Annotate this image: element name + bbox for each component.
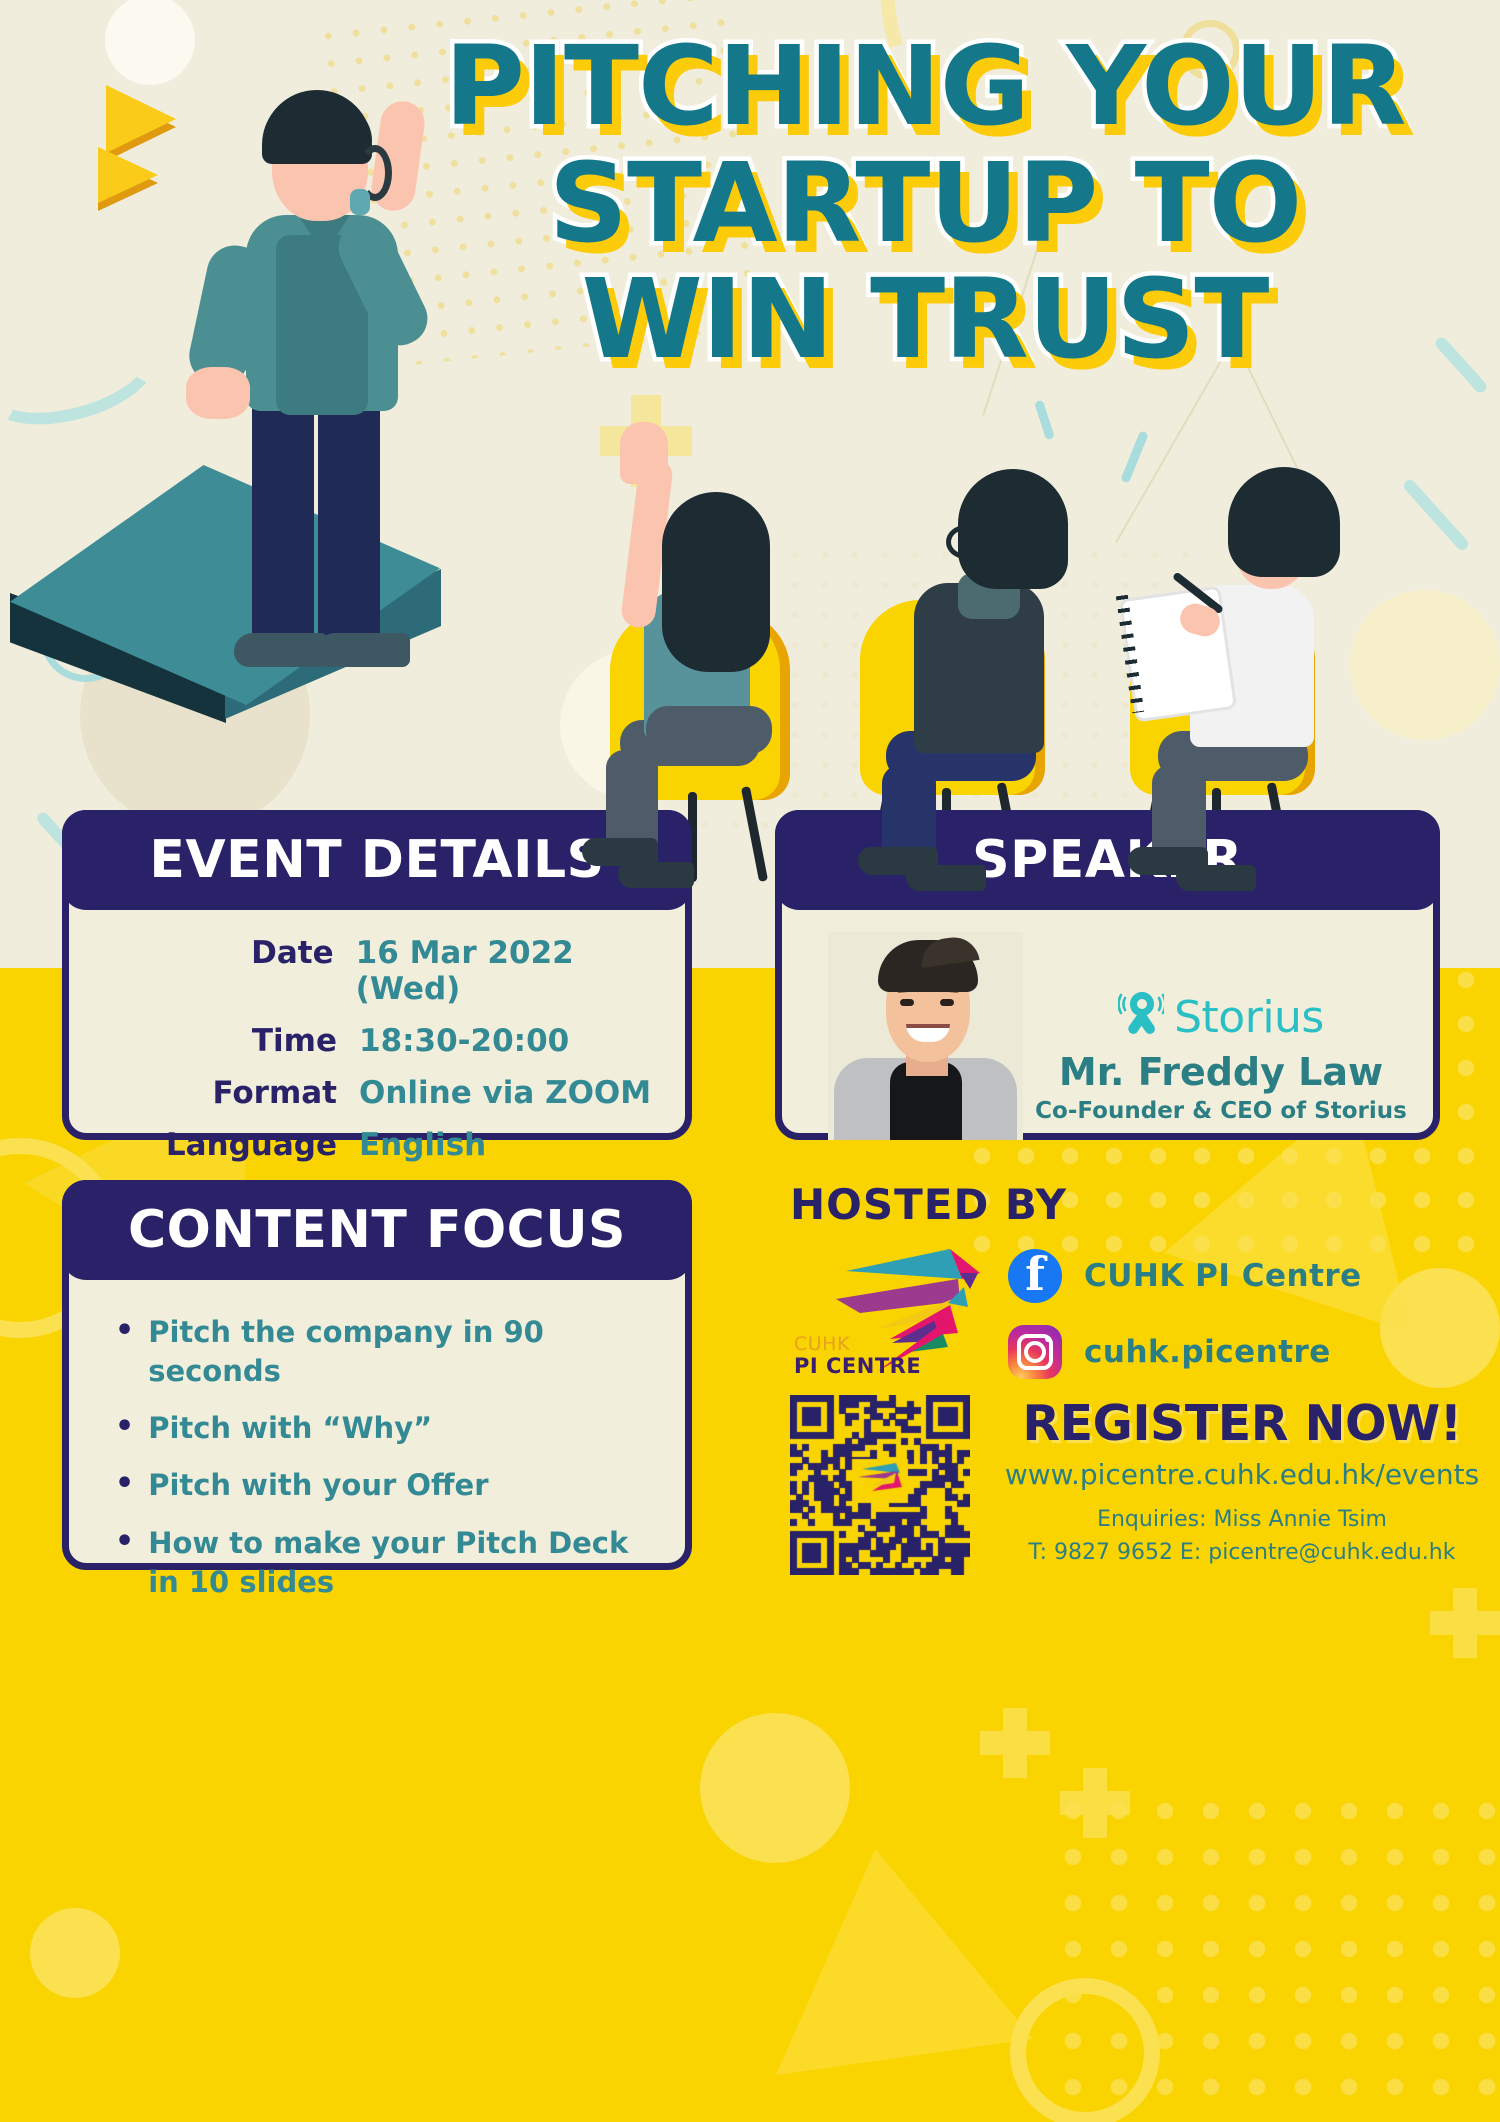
instagram-lens <box>1024 1341 1046 1363</box>
hair <box>662 492 770 672</box>
decor-plus-3 <box>1430 1588 1500 1658</box>
enquiries-line-2: T: 9827 9652 E: picentre@cuhk.edu.hk <box>994 1536 1490 1569</box>
storius-wordmark: Storius <box>1174 992 1324 1043</box>
facebook-icon[interactable] <box>1008 1249 1062 1303</box>
social-instagram[interactable]: cuhk.picentre <box>1008 1325 1362 1379</box>
instagram-dot <box>1045 1336 1051 1342</box>
decor-blob-3 <box>30 1908 120 1998</box>
presenter-hand-left <box>186 367 250 419</box>
decor-ring-bottom <box>1010 1978 1160 2122</box>
register-now-title: REGISTER NOW! <box>994 1399 1490 1448</box>
presenter-leg-right <box>318 400 380 650</box>
cuhk-pi-centre-logo: CUHK PI CENTRE <box>790 1243 980 1393</box>
triangle-1 <box>106 85 176 153</box>
event-row-date: Date 16 Mar 2022 (Wed) <box>69 935 685 1007</box>
speaker-portrait <box>828 932 1023 1140</box>
hosted-by-row: CUHK PI CENTRE CUHK PI Centre cuhk.picen… <box>790 1243 1450 1401</box>
content-focus-card: CONTENT FOCUS • Pitch the company in 90 … <box>62 1180 692 1570</box>
event-label-date: Date <box>69 935 356 971</box>
cuhk-wordmark-line-2: PI CENTRE <box>794 1355 921 1377</box>
presenter-shoe-left <box>234 633 328 667</box>
facebook-handle[interactable]: CUHK PI Centre <box>1084 1258 1362 1294</box>
decor-squiggle <box>0 308 169 442</box>
hosted-by-block: HOSTED BY CUHK PI CENTRE <box>790 1180 1450 1401</box>
bullet-icon: • <box>115 1313 134 1349</box>
shoe <box>906 865 986 891</box>
event-row-time: Time 18:30-20:00 <box>69 1023 685 1059</box>
event-value-date: 16 Mar 2022 (Wed) <box>356 935 685 1007</box>
speaker-name: Mr. Freddy Law <box>1027 1050 1415 1094</box>
content-focus-item: • Pitch with “Why” <box>115 1409 665 1448</box>
content-focus-item: • How to make your Pitch Deck in 10 slid… <box>115 1524 665 1602</box>
decor-plus-2 <box>1060 1768 1130 1838</box>
qr-code-canvas[interactable] <box>790 1395 970 1575</box>
content-focus-heading: CONTENT FOCUS <box>62 1180 692 1280</box>
decor-blob-1 <box>700 1713 850 1863</box>
content-focus-item-text: How to make your Pitch Deck in 10 slides <box>148 1524 665 1602</box>
decor-line-3 <box>982 244 1040 416</box>
event-label-time: Time <box>69 1023 359 1059</box>
content-focus-item-text: Pitch the company in 90 seconds <box>148 1313 665 1391</box>
decor-ring-b <box>1180 20 1240 80</box>
shoe <box>1176 865 1256 891</box>
content-focus-item-text: Pitch with your Offer <box>148 1466 488 1505</box>
storius-pin-icon <box>1118 990 1164 1044</box>
illustration-presenter <box>180 85 440 705</box>
event-value-time: 18:30-20:00 <box>359 1023 569 1059</box>
social-facebook[interactable]: CUHK PI Centre <box>1008 1249 1362 1303</box>
register-url[interactable]: www.picentre.cuhk.edu.hk/events <box>994 1458 1490 1491</box>
event-row-language: Language English <box>69 1127 685 1163</box>
hosted-by-heading: HOSTED BY <box>790 1180 1450 1229</box>
instagram-icon[interactable] <box>1008 1325 1062 1379</box>
audience-person-3 <box>1150 455 1380 895</box>
speaker-role: Co-Founder & CEO of Storius <box>1027 1098 1415 1124</box>
enquiries-line-1: Enquiries: Miss Annie Tsim <box>994 1503 1490 1536</box>
raised-hand <box>620 422 668 484</box>
bullet-icon: • <box>115 1409 134 1445</box>
hair <box>958 469 1068 589</box>
speaker-body: Storius Mr. Freddy Law Co-Founder & CEO … <box>782 925 1433 1140</box>
content-focus-item: • Pitch with your Offer <box>115 1466 665 1505</box>
event-value-format: Online via ZOOM <box>359 1075 651 1111</box>
presenter-hair <box>262 90 372 164</box>
audience-person-2 <box>880 455 1110 895</box>
event-row-format: Format Online via ZOOM <box>69 1075 685 1111</box>
cuhk-wordmark-line-1: CUHK <box>794 1335 921 1355</box>
thigh <box>646 706 772 754</box>
decor-arc-yellow <box>804 0 1386 276</box>
cuhk-wordmark: CUHK PI CENTRE <box>794 1335 921 1377</box>
event-label-language: Language <box>69 1127 359 1163</box>
content-focus-item: • Pitch the company in 90 seconds <box>115 1313 665 1391</box>
decor-triangle-2 <box>747 1831 1034 2075</box>
content-focus-item-text: Pitch with “Why” <box>148 1409 432 1448</box>
register-enquiries: Enquiries: Miss Annie Tsim T: 9827 9652 … <box>994 1503 1490 1569</box>
presenter-shoe-right <box>316 633 410 667</box>
instagram-handle[interactable]: cuhk.picentre <box>1084 1334 1331 1370</box>
audience-person-1 <box>600 470 820 890</box>
decor-slash-4 <box>1433 335 1489 395</box>
event-details-rows: Date 16 Mar 2022 (Wed) Time 18:30-20:00 … <box>69 935 685 1179</box>
event-label-format: Format <box>69 1075 359 1111</box>
event-value-language: English <box>359 1127 486 1163</box>
decor-slash-6 <box>1034 400 1055 441</box>
register-text: REGISTER NOW! www.picentre.cuhk.edu.hk/e… <box>994 1395 1490 1575</box>
presenter-leg-left <box>252 400 314 650</box>
qr-code[interactable] <box>790 1395 970 1575</box>
presenter-mic-icon <box>350 189 370 215</box>
speaker-info: Storius Mr. Freddy Law Co-Founder & CEO … <box>1023 990 1433 1140</box>
poster-root: PITCHING YOUR STARTUP TO WIN TRUST EVENT… <box>0 0 1500 2122</box>
hair <box>1228 467 1340 577</box>
register-block: REGISTER NOW! www.picentre.cuhk.edu.hk/e… <box>790 1395 1490 1575</box>
portrait-eye-right <box>940 999 954 1006</box>
bullet-icon: • <box>115 1466 134 1502</box>
social-links: CUHK PI Centre cuhk.picentre <box>1008 1243 1362 1401</box>
bullet-icon: • <box>115 1524 134 1560</box>
portrait-eye-left <box>900 999 914 1006</box>
triangle-2 <box>98 147 158 203</box>
decor-circle-white <box>105 0 195 85</box>
decor-slash-3 <box>1401 478 1470 553</box>
storius-logo: Storius <box>1027 990 1415 1044</box>
decor-plus-1 <box>980 1708 1050 1778</box>
content-focus-list: • Pitch the company in 90 seconds • Pitc… <box>115 1313 665 1620</box>
decor-slash-5 <box>1120 430 1149 483</box>
shoe <box>618 862 694 888</box>
